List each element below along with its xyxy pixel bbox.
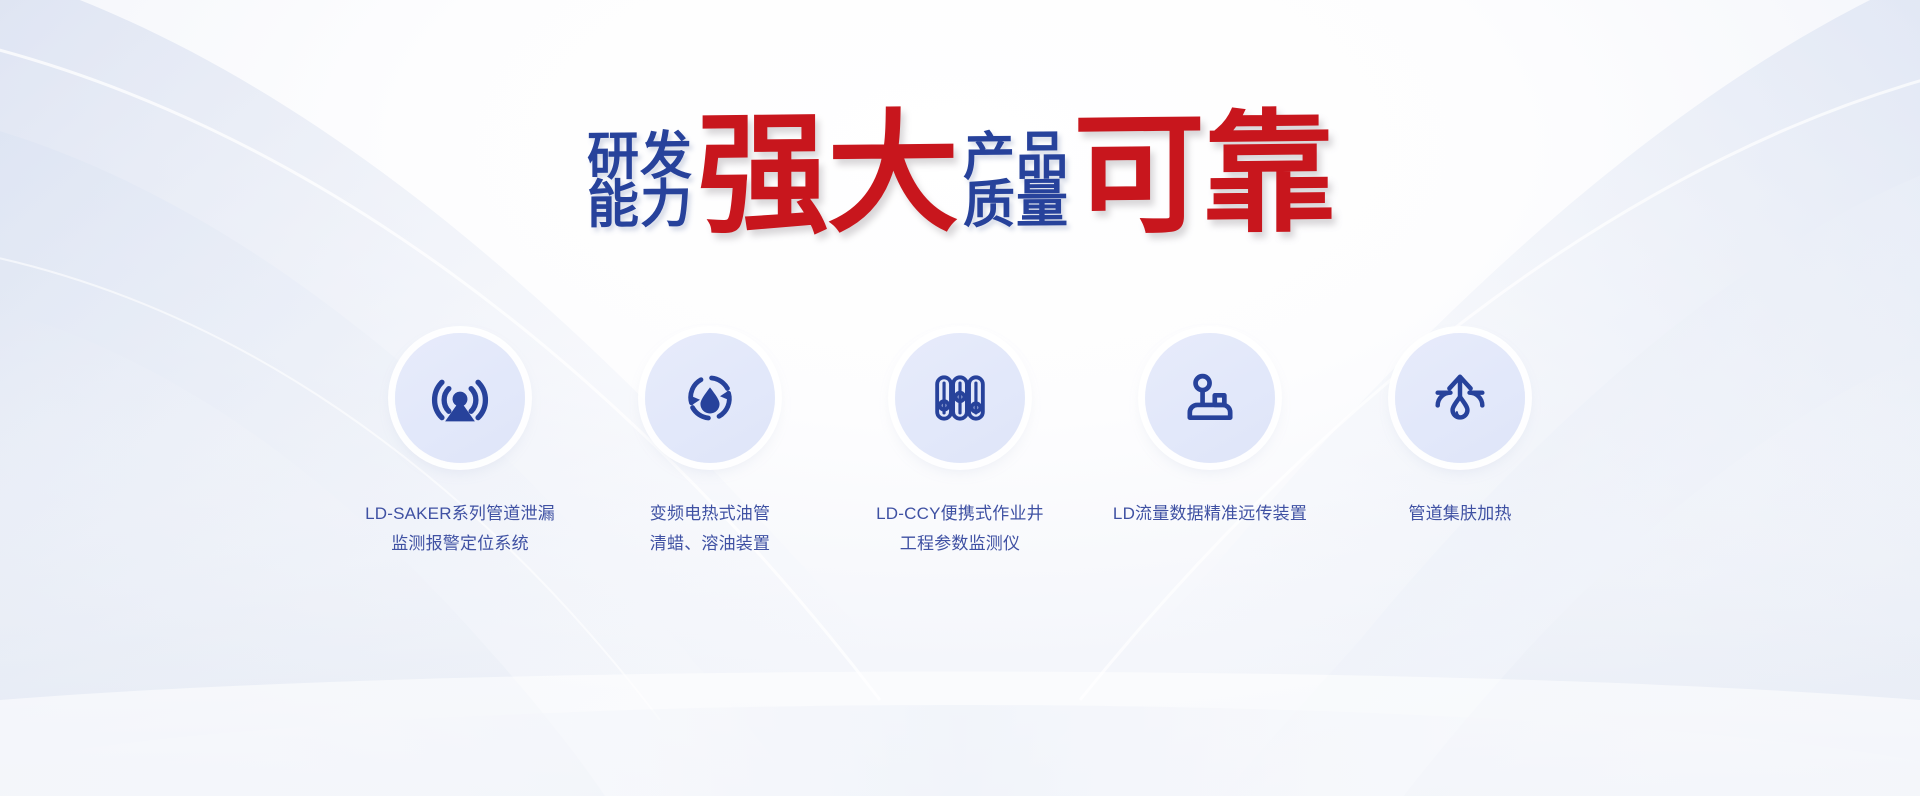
headline-line-zhiliang: 质量 [963,181,1069,230]
headline-part-product-quality: 产品 质量 [963,134,1069,231]
headline-part-strong: 强大 [697,117,957,233]
banner-stage: 研发 能力 强大 产品 质量 可靠 [0,0,1920,796]
feature-item-well-monitor[interactable]: LD-CCY便携式作业井 工程参数监测仪 [835,333,1085,559]
sliders-icon [926,364,994,432]
headline: 研发 能力 强大 产品 质量 可靠 [0,118,1920,232]
headline-part-rd-capability: 研发 能力 [587,134,693,231]
feature-icon-circle [1145,333,1275,463]
feature-icon-circle [895,333,1025,463]
feature-icon-circle [1395,333,1525,463]
feature-caption: 管道集肤加热 [1408,499,1511,529]
headline-part-reliable: 可靠 [1073,117,1333,233]
feature-list: LD-SAKER系列管道泄漏 监测报警定位系统 变频电热式油管 清蜡、溶油装置 [0,333,1920,559]
feature-item-leak-detection[interactable]: LD-SAKER系列管道泄漏 监测报警定位系统 [335,333,585,559]
feature-caption: LD-SAKER系列管道泄漏 监测报警定位系统 [365,499,555,559]
feature-caption: 变频电热式油管 清蜡、溶油装置 [650,499,770,559]
feature-caption: LD流量数据精准远传装置 [1113,499,1307,529]
feature-icon-circle [395,333,525,463]
feature-icon-circle [645,333,775,463]
feature-caption: LD-CCY便携式作业井 工程参数监测仪 [876,499,1044,559]
signal-tower-icon [426,364,494,432]
joystick-icon [1176,364,1244,432]
feature-item-flow-telemetry[interactable]: LD流量数据精准远传装置 [1085,333,1335,529]
headline-line-nengli: 能力 [587,181,693,230]
arrow-droplet-icon [1426,364,1494,432]
feature-item-skin-heating[interactable]: 管道集肤加热 [1335,333,1585,529]
feature-item-dewaxing[interactable]: 变频电热式油管 清蜡、溶油装置 [585,333,835,559]
droplet-recycle-icon [676,364,744,432]
